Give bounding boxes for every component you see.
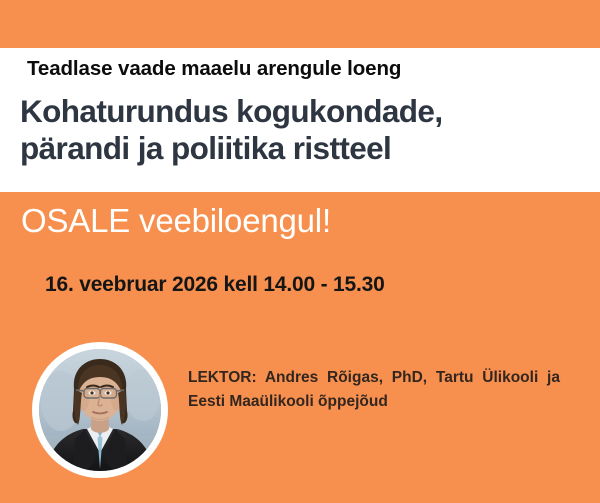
lecturer-credit: LEKTOR: Andres Rõigas, PhD, Tartu Ülikoo… [188, 366, 560, 413]
portrait-image [39, 349, 161, 471]
poster-headline: Kohaturundus kogukondade, pärandi ja pol… [20, 93, 590, 167]
lecturer-label: LEKTOR: [188, 369, 257, 386]
event-datetime: 16. veebruar 2026 kell 14.00 - 15.30 [45, 272, 385, 297]
portrait-avatar [35, 345, 165, 475]
headline-line-1: Kohaturundus kogukondade, [20, 93, 443, 129]
call-to-action-text: OSALE veebiloengul! [21, 203, 331, 239]
poster-subtitle: Teadlase vaade maaelu arengule loeng [27, 57, 401, 82]
headline-line-2: pärandi ja poliitika ristteel [20, 130, 590, 167]
poster-canvas: Teadlase vaade maaelu arengule loeng Koh… [0, 0, 600, 503]
